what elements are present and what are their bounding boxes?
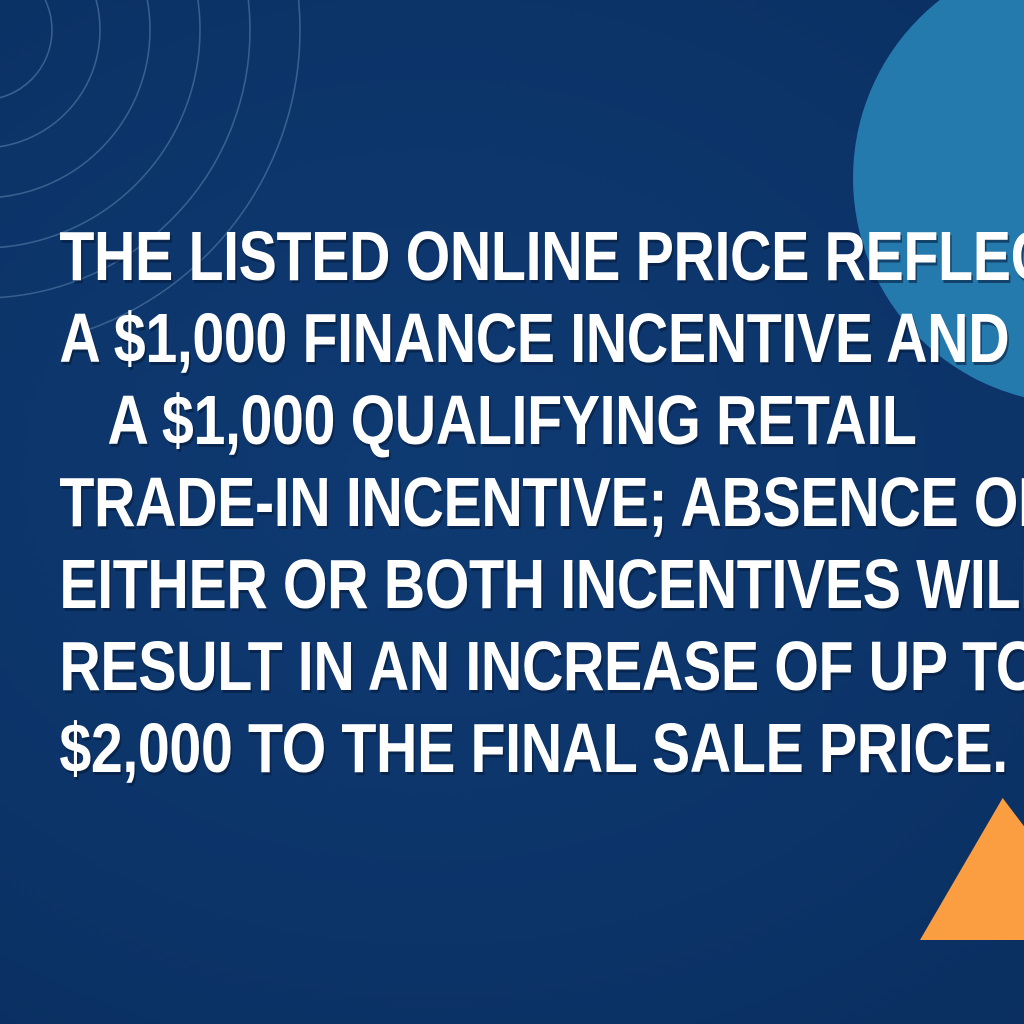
headline-line: TRADE-IN INCENTIVE; ABSENCE OF — [59, 461, 964, 543]
headline-line: RESULT IN AN INCREASE OF UP TO — [59, 625, 964, 707]
page-title: THE LISTED ONLINE PRICE REFLECTS A $1,00… — [59, 215, 964, 789]
headline-line: EITHER OR BOTH INCENTIVES WILL — [59, 543, 964, 625]
headline-line: A $1,000 QUALIFYING RETAIL — [59, 379, 964, 461]
orange-triangle-shape — [920, 798, 1024, 940]
headline-line: $2,000 TO THE FINAL SALE PRICE. — [59, 707, 964, 789]
headline-line: THE LISTED ONLINE PRICE REFLECTS — [59, 215, 964, 297]
promo-graphic-canvas: THE LISTED ONLINE PRICE REFLECTS A $1,00… — [0, 0, 1024, 1024]
headline-line: A $1,000 FINANCE INCENTIVE AND — [59, 297, 964, 379]
